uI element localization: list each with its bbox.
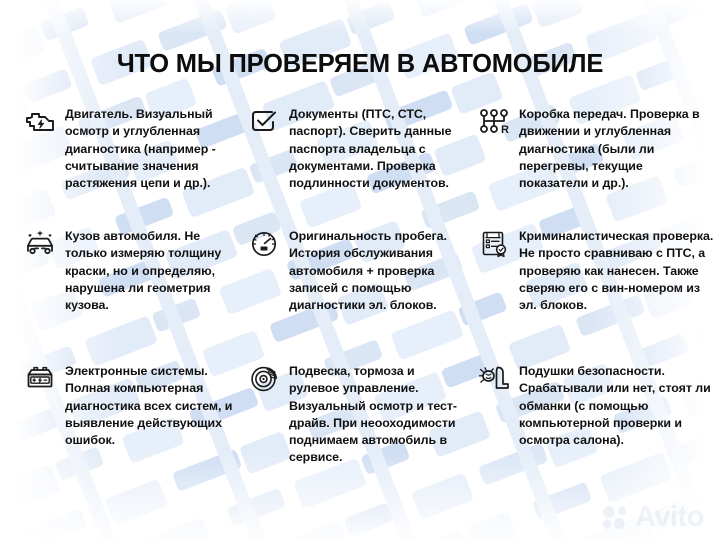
item-head: Электронные системы. bbox=[65, 364, 208, 378]
brake-disc-icon bbox=[246, 365, 284, 399]
item-body: Не просто сравниваю с ПТС, а проверяю ка… bbox=[519, 246, 705, 312]
checklist-grid: Двигатель. Визуальный осмотр и углубленн… bbox=[0, 106, 720, 467]
checklist-item-odometer: Оригинальность пробега. История обслужив… bbox=[240, 228, 472, 363]
document-check-icon bbox=[246, 108, 284, 142]
checklist-item-forensic: Криминалистическая проверка. Не просто с… bbox=[472, 228, 720, 363]
item-body: Полная компьютерная диагностика всех сис… bbox=[65, 381, 232, 447]
item-body: Срабатывали или нет, стоят ли обманки (с… bbox=[519, 381, 711, 447]
checklist-item-text: Подушки безопасности. Срабатывали или не… bbox=[519, 363, 714, 449]
checklist-item-text: Двигатель. Визуальный осмотр и углубленн… bbox=[65, 106, 234, 192]
item-head: Оригинальность пробега. bbox=[289, 229, 447, 243]
checklist-item-text: Подвеска, тормоза и рулевое управление. … bbox=[289, 363, 466, 467]
item-head: Подушки безопасности. bbox=[519, 364, 665, 378]
forensic-document-icon bbox=[476, 230, 514, 264]
item-head: Двигатель. bbox=[65, 107, 133, 121]
avito-bubbles-icon bbox=[601, 505, 631, 531]
car-body-icon bbox=[22, 230, 60, 264]
item-head: Кузов автомобиля. bbox=[65, 229, 181, 243]
item-head: Криминалистическая проверка. bbox=[519, 229, 713, 243]
checklist-item-text: Кузов автомобиля. Не только измеряю толщ… bbox=[65, 228, 234, 314]
airbag-seat-icon bbox=[476, 365, 514, 399]
checklist-item-text: Документы (ПТС, СТС, паспорт). Сверить д… bbox=[289, 106, 466, 192]
page-title: ЧТО МЫ ПРОВЕРЯЕМ В АВТОМОБИЛЕ bbox=[0, 50, 720, 79]
odometer-icon bbox=[246, 230, 284, 264]
item-head: Коробка передач. bbox=[519, 107, 627, 121]
gearbox-icon: R bbox=[476, 108, 514, 142]
item-body: История обслуживания автомобиля + провер… bbox=[289, 246, 437, 312]
checklist-item-airbags: Подушки безопасности. Срабатывали или не… bbox=[472, 363, 720, 467]
checklist-item-engine: Двигатель. Визуальный осмотр и углубленн… bbox=[0, 106, 240, 228]
avito-watermark: Avito bbox=[601, 503, 704, 532]
checklist-item-gearbox: R Коробка передач. Проверка в движении и… bbox=[472, 106, 720, 228]
checklist-item-text: Оригинальность пробега. История обслужив… bbox=[289, 228, 466, 314]
checklist-item-documents: Документы (ПТС, СТС, паспорт). Сверить д… bbox=[240, 106, 472, 228]
poster-content: ЧТО МЫ ПРОВЕРЯЕМ В АВТОМОБИЛЕ Двигатель.… bbox=[0, 0, 720, 540]
svg-text:R: R bbox=[501, 124, 509, 136]
avito-wordmark: Avito bbox=[635, 503, 704, 532]
engine-icon bbox=[22, 108, 60, 142]
checklist-item-text: Коробка передач. Проверка в движении и у… bbox=[519, 106, 714, 192]
poster-root: ЧТО МЫ ПРОВЕРЯЕМ В АВТОМОБИЛЕ Двигатель.… bbox=[0, 0, 720, 540]
item-head: Подвеска, тормоза и рулевое управление. bbox=[289, 364, 418, 395]
item-body: Визуальный осмотр и тест-драйв. При неоо… bbox=[289, 399, 457, 465]
checklist-item-car-body: Кузов автомобиля. Не только измеряю толщ… bbox=[0, 228, 240, 363]
checklist-item-electronics: Электронные системы. Полная компьютерная… bbox=[0, 363, 240, 467]
battery-icon bbox=[22, 365, 60, 399]
checklist-item-suspension: Подвеска, тормоза и рулевое управление. … bbox=[240, 363, 472, 467]
checklist-item-text: Криминалистическая проверка. Не просто с… bbox=[519, 228, 714, 314]
checklist-item-text: Электронные системы. Полная компьютерная… bbox=[65, 363, 234, 449]
